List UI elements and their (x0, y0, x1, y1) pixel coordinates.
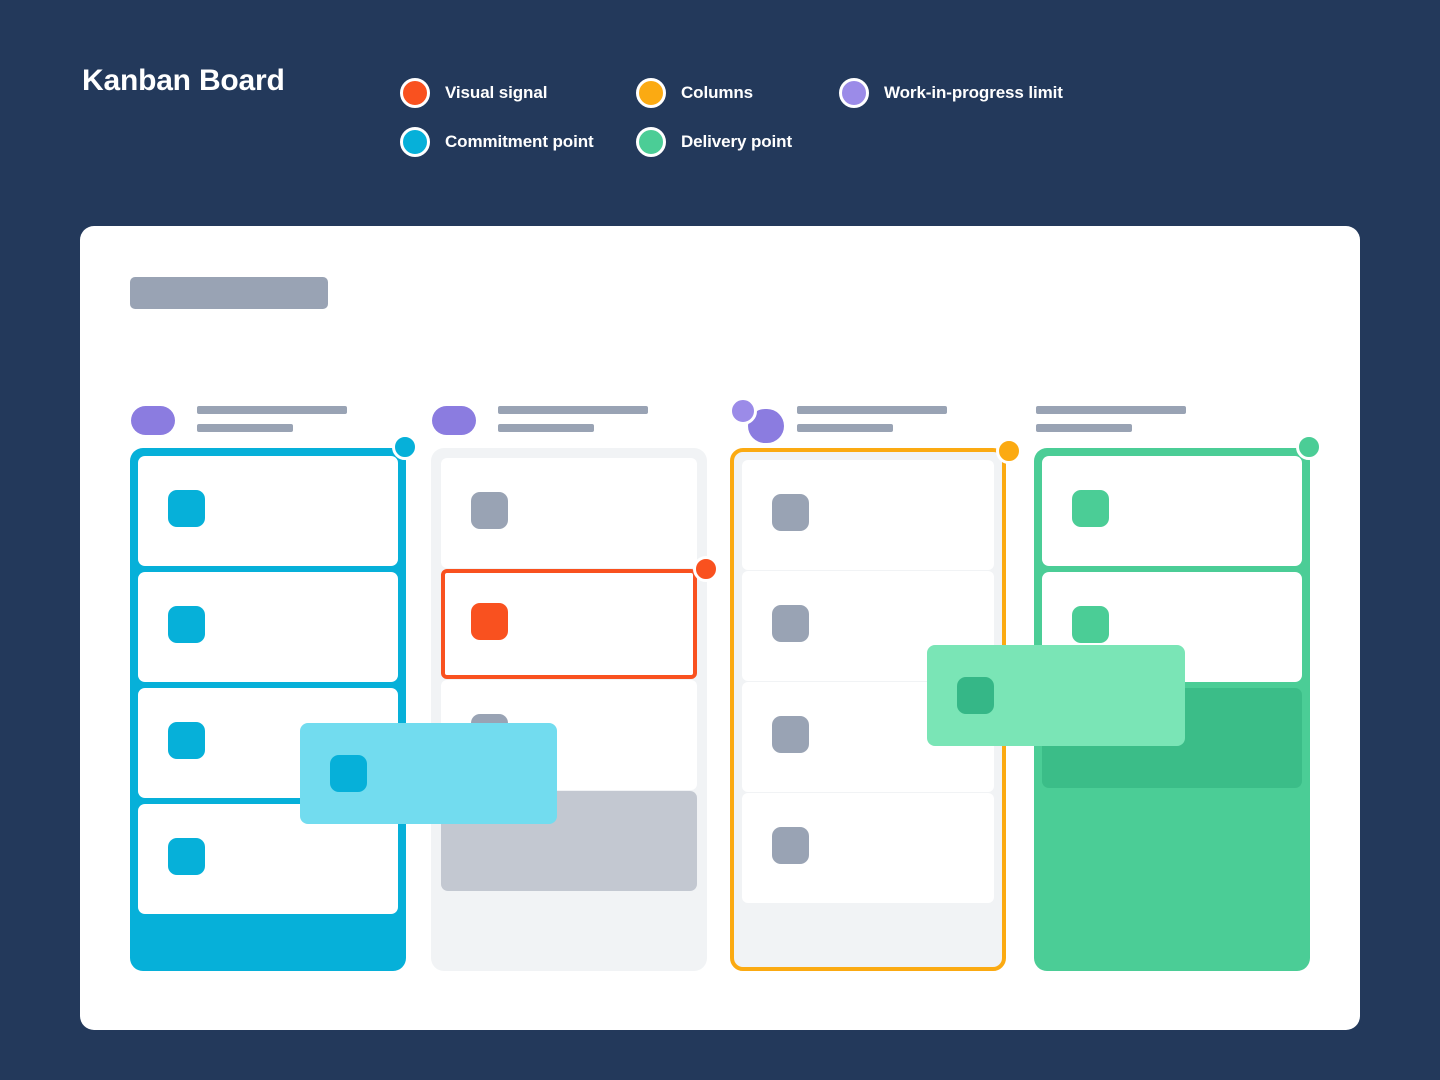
card-chip-icon (772, 827, 809, 864)
card-chip-icon (330, 755, 367, 792)
card-chip-icon (168, 490, 205, 527)
card-chip-icon (1072, 490, 1109, 527)
column-title-placeholder (1036, 406, 1186, 442)
legend-dot-icon (400, 127, 430, 157)
legend-item-commitment-point[interactable]: Commitment point (400, 127, 636, 157)
placeholder-bar (197, 424, 293, 432)
card-chip-icon (168, 606, 205, 643)
placeholder-bar (1036, 424, 1132, 432)
legend-item-columns[interactable]: Columns (636, 78, 839, 108)
wip-limit-dot-icon (729, 397, 757, 425)
wip-limit-pill-icon (432, 406, 476, 435)
page-header: Kanban Board Visual signal Columns Work-… (0, 0, 1440, 200)
legend-label: Columns (681, 83, 753, 103)
legend-item-wip-limit[interactable]: Work-in-progress limit (839, 78, 1099, 108)
visual-signal-dot-icon (693, 556, 719, 582)
kanban-card[interactable] (138, 456, 398, 566)
commitment-point-dot-icon (392, 434, 418, 460)
card-chip-icon (471, 492, 508, 529)
card-chip-icon (1072, 606, 1109, 643)
placeholder-bar (197, 406, 347, 414)
column-body (130, 448, 406, 971)
legend-row-bottom: Commitment point Delivery point (400, 117, 1160, 166)
placeholder-bar (498, 406, 648, 414)
placeholder-bar (797, 424, 893, 432)
card-chip-icon (957, 677, 994, 714)
legend-dot-icon (636, 127, 666, 157)
legend-item-delivery-point[interactable]: Delivery point (636, 127, 839, 157)
card-chip-icon (772, 494, 809, 531)
column-header (130, 396, 406, 448)
placeholder-bar (1036, 406, 1186, 414)
kanban-card-alert[interactable] (441, 569, 697, 679)
legend-label: Work-in-progress limit (884, 83, 1063, 103)
card-chip-icon (168, 722, 205, 759)
column-header (730, 396, 1006, 448)
kanban-card[interactable] (742, 793, 994, 903)
card-chip-icon (772, 716, 809, 753)
delivery-point-dot-icon (1296, 434, 1322, 460)
card-chip-icon (168, 838, 205, 875)
columns-dot-icon (996, 438, 1022, 464)
legend-label: Visual signal (445, 83, 547, 103)
kanban-card[interactable] (441, 458, 697, 568)
kanban-card[interactable] (742, 460, 994, 570)
page-title: Kanban Board (82, 64, 285, 98)
dragging-card-delivery[interactable] (927, 645, 1185, 746)
column-header (431, 396, 707, 448)
column-title-placeholder (498, 406, 648, 442)
card-chip-icon (471, 603, 508, 640)
card-chip-icon (772, 605, 809, 642)
column-header (1034, 396, 1310, 448)
wip-limit-pill-icon (131, 406, 175, 435)
legend-dot-icon (636, 78, 666, 108)
placeholder-bar (797, 406, 947, 414)
placeholder-bar (498, 424, 594, 432)
kanban-card[interactable] (1042, 456, 1302, 566)
legend-label: Delivery point (681, 132, 792, 152)
legend-row-top: Visual signal Columns Work-in-progress l… (400, 68, 1160, 117)
legend-label: Commitment point (445, 132, 594, 152)
kanban-card[interactable] (138, 572, 398, 682)
column-title-placeholder (797, 406, 947, 442)
board-column-2[interactable] (431, 396, 707, 971)
column-body (431, 448, 707, 971)
legend-dot-icon (839, 78, 869, 108)
column-title-placeholder (197, 406, 347, 442)
board-panel (80, 226, 1360, 1030)
legend-dot-icon (400, 78, 430, 108)
board-column-1[interactable] (130, 396, 406, 971)
dragging-card-commitment[interactable] (300, 723, 557, 824)
board-title-placeholder (130, 277, 328, 309)
legend-item-visual-signal[interactable]: Visual signal (400, 78, 636, 108)
legend: Visual signal Columns Work-in-progress l… (400, 68, 1160, 166)
